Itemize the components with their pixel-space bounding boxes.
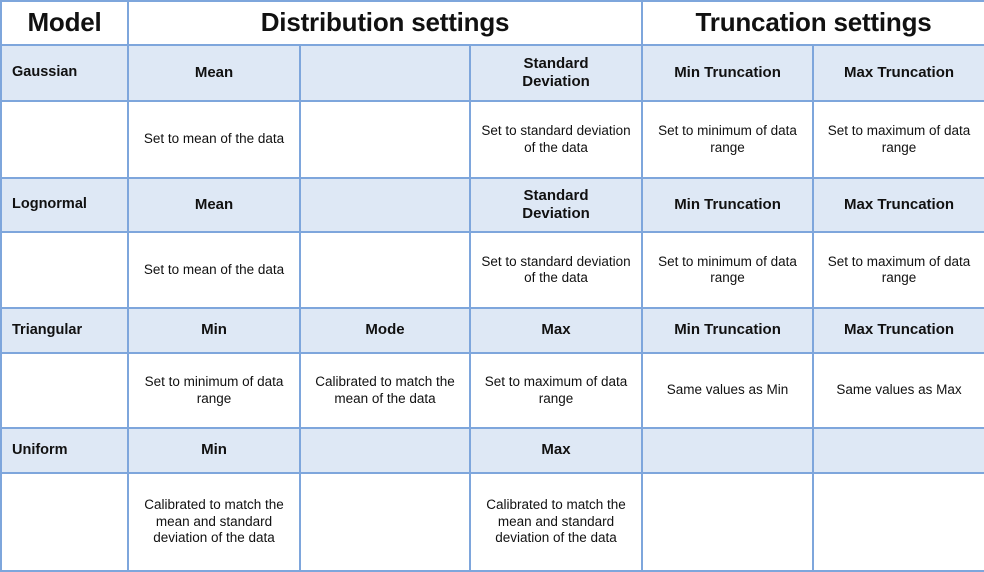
model-name-triangular: Triangular [1,308,128,353]
data-row-gaussian: Set to mean of the data Set to standard … [1,101,984,178]
data-lognormal-param-3: Set to standard deviation of the data [470,232,642,308]
data-triangular-trunc-max: Same values as Max [813,353,984,428]
data-triangular-model-spacer [1,353,128,428]
data-lognormal-trunc-min: Set to minimum of data range [642,232,813,308]
param-header-gaussian-3-line2: Deviation [522,73,590,90]
trunc-header-gaussian-max: Max Truncation [813,45,984,101]
data-uniform-model-spacer [1,473,128,571]
trunc-header-triangular-max: Max Truncation [813,308,984,353]
data-lognormal-model-spacer [1,232,128,308]
data-uniform-trunc-max [813,473,984,571]
data-gaussian-param-1: Set to mean of the data [128,101,300,178]
param-header-gaussian-1: Mean [128,45,300,101]
trunc-header-gaussian-min: Min Truncation [642,45,813,101]
param-header-uniform-1: Min [128,428,300,473]
param-header-triangular-1: Min [128,308,300,353]
band-header-truncation: Truncation settings [642,1,984,45]
model-name-uniform: Uniform [1,428,128,473]
param-header-gaussian-3: Standard Deviation [470,45,642,101]
param-header-lognormal-2 [300,178,470,232]
model-name-gaussian: Gaussian [1,45,128,101]
param-header-uniform-3: Max [470,428,642,473]
data-uniform-trunc-min [642,473,813,571]
subheader-row-triangular: Triangular Min Mode Max Min Truncation M… [1,308,984,353]
data-gaussian-model-spacer [1,101,128,178]
data-uniform-param-1: Calibrated to match the mean and standar… [128,473,300,571]
data-row-triangular: Set to minimum of data range Calibrated … [1,353,984,428]
subheader-row-gaussian: Gaussian Mean Standard Deviation Min Tru… [1,45,984,101]
distribution-settings-table: Model Distribution settings Truncation s… [0,0,984,572]
data-gaussian-trunc-min: Set to minimum of data range [642,101,813,178]
data-lognormal-param-2 [300,232,470,308]
data-triangular-trunc-min: Same values as Min [642,353,813,428]
param-header-lognormal-3-line2: Deviation [522,205,590,222]
data-row-uniform: Calibrated to match the mean and standar… [1,473,984,571]
param-header-triangular-3: Max [470,308,642,353]
param-header-lognormal-3-line1: Standard [524,187,589,204]
param-header-lognormal-1: Mean [128,178,300,232]
trunc-header-triangular-min: Min Truncation [642,308,813,353]
data-triangular-param-3: Set to maximum of data range [470,353,642,428]
model-name-lognormal: Lognormal [1,178,128,232]
table-band-header-row: Model Distribution settings Truncation s… [1,1,984,45]
param-header-uniform-2 [300,428,470,473]
param-header-lognormal-3: Standard Deviation [470,178,642,232]
band-header-distribution: Distribution settings [128,1,642,45]
subheader-row-uniform: Uniform Min Max [1,428,984,473]
data-uniform-param-3: Calibrated to match the mean and standar… [470,473,642,571]
data-gaussian-trunc-max: Set to maximum of data range [813,101,984,178]
param-header-triangular-2: Mode [300,308,470,353]
band-header-model: Model [1,1,128,45]
data-uniform-param-2 [300,473,470,571]
data-gaussian-param-3: Set to standard deviation of the data [470,101,642,178]
data-triangular-param-1: Set to minimum of data range [128,353,300,428]
trunc-header-lognormal-max: Max Truncation [813,178,984,232]
data-lognormal-param-1: Set to mean of the data [128,232,300,308]
data-lognormal-trunc-max: Set to maximum of data range [813,232,984,308]
trunc-header-uniform-min [642,428,813,473]
data-row-lognormal: Set to mean of the data Set to standard … [1,232,984,308]
trunc-header-uniform-max [813,428,984,473]
param-header-gaussian-2 [300,45,470,101]
data-gaussian-param-2 [300,101,470,178]
subheader-row-lognormal: Lognormal Mean Standard Deviation Min Tr… [1,178,984,232]
trunc-header-lognormal-min: Min Truncation [642,178,813,232]
data-triangular-param-2: Calibrated to match the mean of the data [300,353,470,428]
param-header-gaussian-3-line1: Standard [524,55,589,72]
